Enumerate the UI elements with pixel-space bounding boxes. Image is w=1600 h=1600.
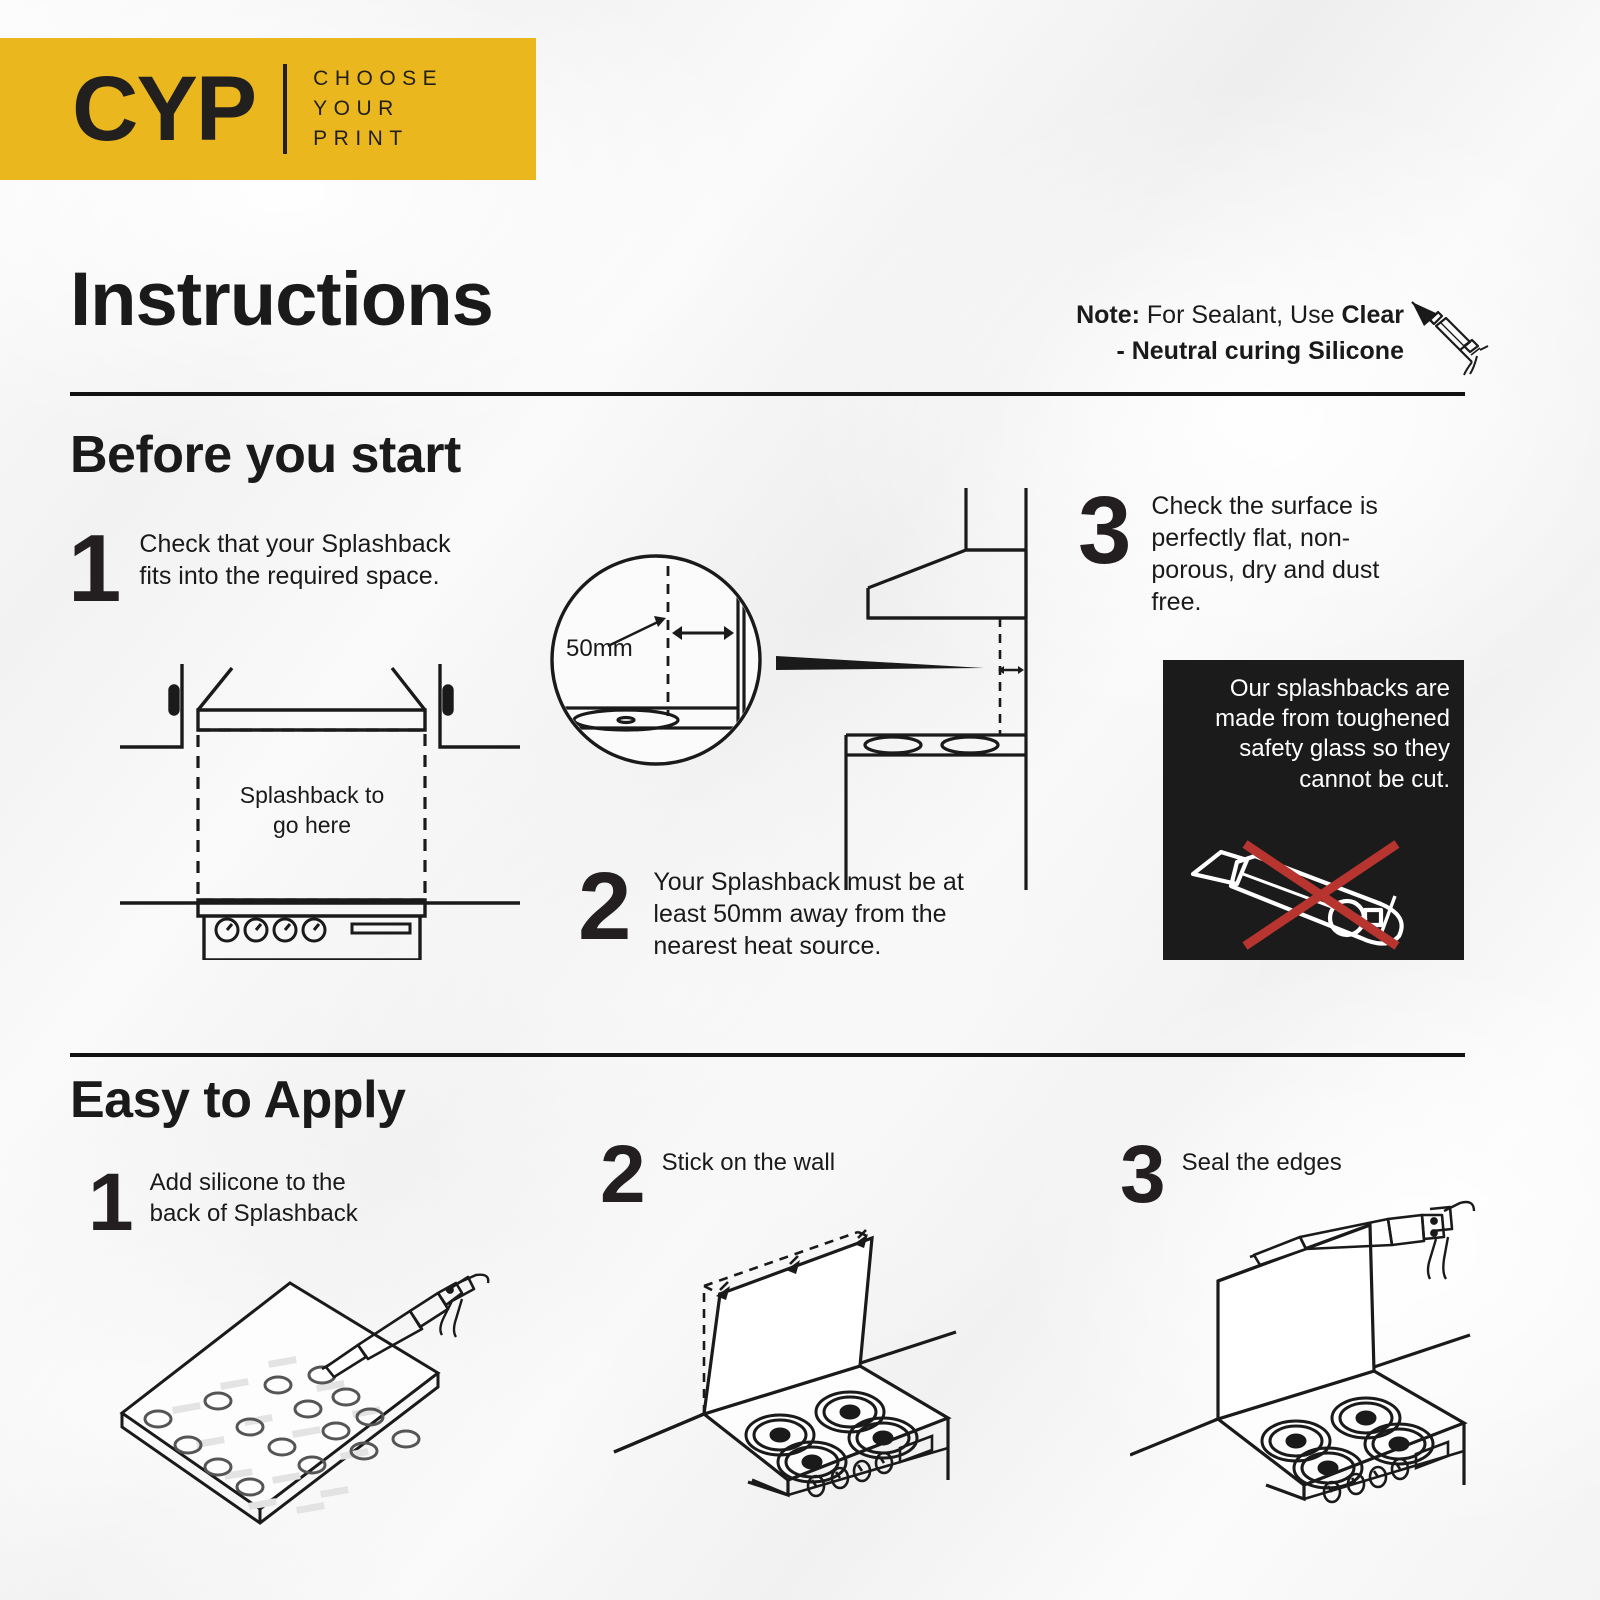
caulk-gun-icon — [1408, 296, 1492, 376]
diagram-apply-silicone — [100, 1255, 500, 1555]
diagram-stick-on-wall — [600, 1190, 1000, 1520]
sealant-note-text: For Sealant, Use — [1140, 301, 1341, 329]
sealant-note: Note: For Sealant, Use Clear - Neutral c… — [1076, 298, 1404, 369]
divider-bottom — [70, 1053, 1465, 1057]
sealant-note-line-1: Note: For Sealant, Use Clear — [1076, 298, 1404, 334]
brand-tagline-line-2: YOUR — [313, 94, 443, 124]
brand-logo-banner: CYP CHOOSE YOUR PRINT — [0, 38, 536, 180]
warning-box-text: Our splashbacks are made from toughened … — [1182, 674, 1450, 795]
section-title-easy-to-apply: Easy to Apply — [70, 1070, 405, 1130]
brand-mark: CYP — [72, 63, 255, 155]
step-apply-1-number: 1 — [88, 1168, 134, 1239]
step-apply-3-text: Seal the edges — [1182, 1140, 1342, 1179]
step-before-3: 3 Check the surface is perfectly flat, n… — [1078, 490, 1421, 618]
brand-tagline-line-3: PRINT — [313, 124, 443, 154]
step-apply-1: 1 Add silicone to the back of Splashback — [88, 1168, 390, 1239]
section-title-before-you-start: Before you start — [70, 425, 461, 485]
step-apply-1-text: Add silicone to the back of Splashback — [150, 1168, 390, 1229]
step-apply-2-text: Stick on the wall — [662, 1140, 835, 1179]
sealant-note-line-2: - Neutral curing Silicone — [1116, 337, 1404, 365]
brand-tagline-line-1: CHOOSE — [313, 64, 443, 94]
step-before-1: 1 Check that your Splashback fits into t… — [68, 528, 489, 611]
diagram-seal-edges — [1130, 1185, 1550, 1525]
diagram-splashback-fit: Splashback to go here — [120, 650, 520, 960]
page-title: Instructions — [70, 262, 493, 338]
sealant-note-emphasis: Clear — [1341, 301, 1404, 329]
sealant-note-label: Note: — [1076, 301, 1140, 329]
svg-text:go here: go here — [273, 812, 351, 838]
utility-knife-crossed-icon — [1185, 838, 1447, 950]
brand-divider — [283, 64, 287, 154]
divider-top — [70, 392, 1465, 396]
diagram-label-50mm: 50mm — [566, 635, 633, 662]
diagram-label-splashback-area: Splashback to — [240, 782, 384, 808]
step-before-1-number: 1 — [68, 528, 121, 611]
step-before-1-text: Check that your Splashback fits into the… — [139, 528, 489, 592]
diagram-heat-source-clearance: 50mm — [548, 470, 1078, 890]
warning-box-no-cutting: Our splashbacks are made from toughened … — [1163, 660, 1464, 960]
step-before-3-number: 3 — [1078, 490, 1131, 573]
brand-tagline: CHOOSE YOUR PRINT — [313, 64, 443, 153]
step-before-3-text: Check the surface is perfectly flat, non… — [1151, 490, 1421, 618]
